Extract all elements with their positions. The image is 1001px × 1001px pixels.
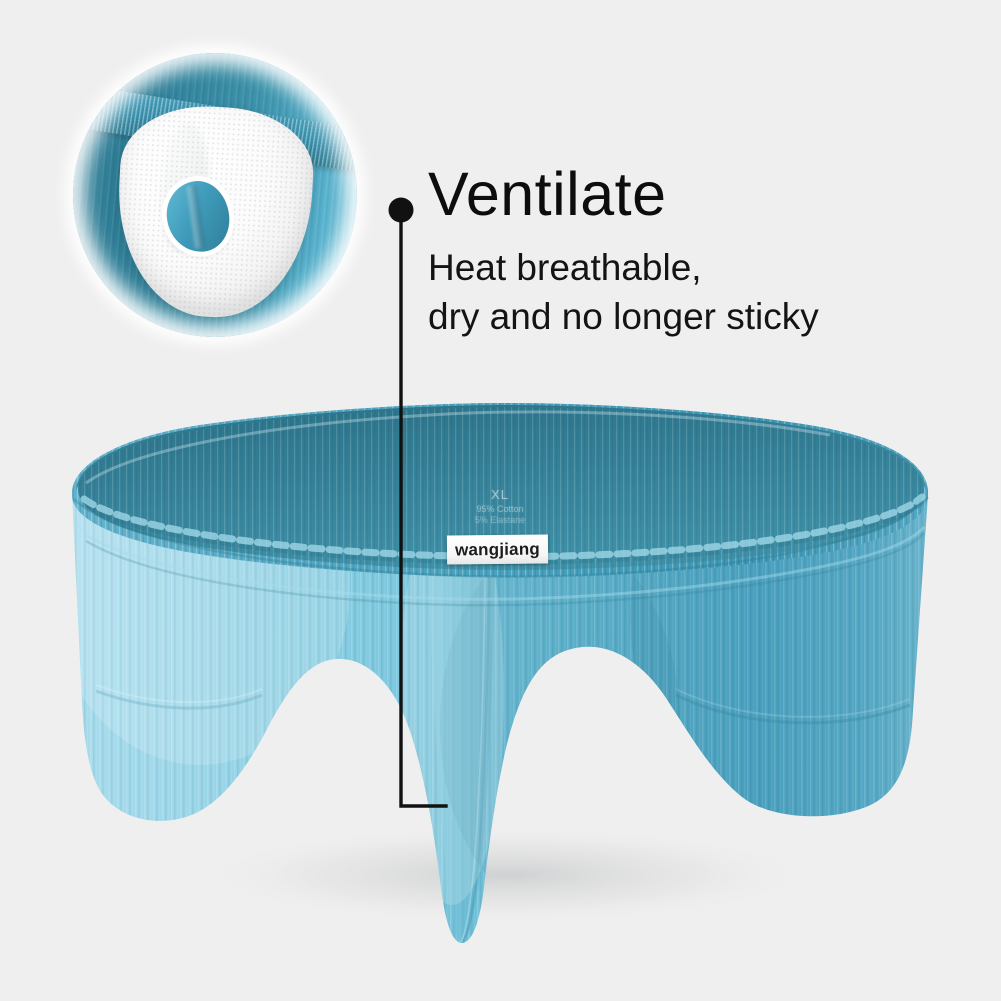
inset-photo-content (73, 53, 357, 337)
inset-fly-fold (186, 184, 205, 249)
product-photo (0, 395, 1001, 955)
printed-size: XL (440, 487, 560, 502)
callout-dot (389, 198, 414, 223)
printed-composition-line-2: 5% Elastane (440, 515, 560, 525)
feature-description-line-1: Heat breathable, (428, 243, 819, 292)
printed-composition-line-1: 95% Cotton (440, 504, 560, 514)
feature-description: Heat breathable, dry and no longer stick… (428, 243, 819, 341)
printed-size-info: XL 95% Cotton 5% Elastane (440, 487, 560, 525)
brand-label-text: wangjiang (455, 539, 540, 560)
brand-label-tag: wangjiang (447, 534, 548, 564)
inset-detail-photo (73, 53, 357, 337)
feature-headline: Ventilate (428, 164, 667, 225)
feature-description-line-2: dry and no longer sticky (428, 292, 819, 341)
product-feature-image: XL 95% Cotton 5% Elastane wangjiang Vent… (0, 0, 1001, 1001)
product-drop-shadow (175, 823, 835, 927)
